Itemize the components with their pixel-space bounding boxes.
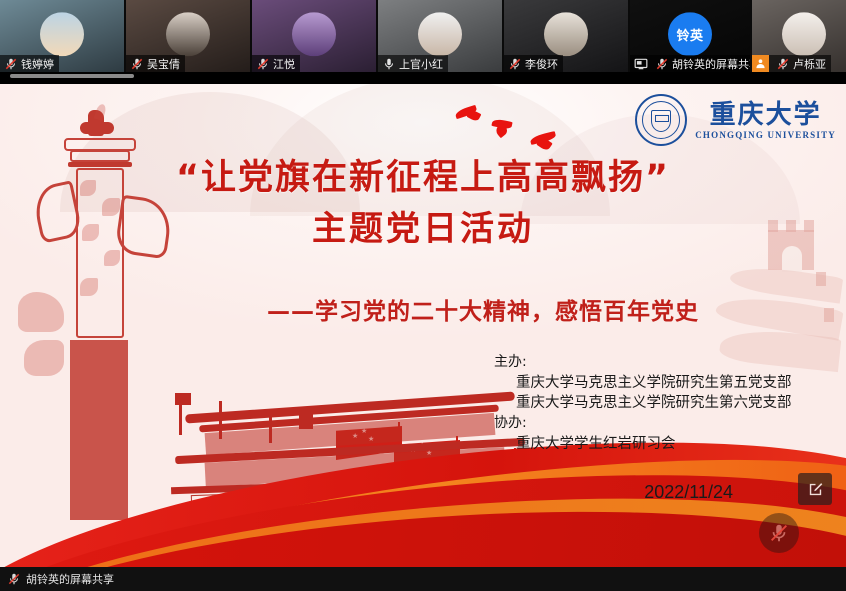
host-label: 主办: bbox=[494, 352, 846, 373]
avatar bbox=[544, 12, 588, 56]
participant-tile[interactable]: 卢栎亚 bbox=[752, 0, 846, 72]
shared-screen-slide: ★★★ ★★★ ★★★ bbox=[0, 84, 846, 567]
avatar bbox=[292, 12, 336, 56]
participant-namebar: 吴宝倩 bbox=[126, 55, 185, 72]
participant-tile[interactable]: 江悦 bbox=[252, 0, 376, 72]
slide-title-main: “让党旗在新征程上高高飘扬” bbox=[0, 156, 846, 200]
zoom-meeting-window: 钱婷婷吴宝倩江悦上官小红李俊环铃英胡铃英的屏幕共享卢栎亚 bbox=[0, 0, 846, 591]
filmstrip-scrollbar[interactable] bbox=[0, 72, 846, 80]
participant-name: 胡铃英的屏幕共享 bbox=[672, 56, 750, 72]
microphone-muted-icon bbox=[508, 57, 522, 71]
avatar-initials: 铃英 bbox=[668, 12, 712, 56]
status-bar-text: 胡铃英的屏幕共享 bbox=[26, 571, 114, 587]
chongqing-university-logo: 重庆大学 CHONGQING UNIVERSITY bbox=[635, 94, 836, 146]
participant-name: 卢栎亚 bbox=[793, 56, 826, 72]
status-bar: 胡铃英的屏幕共享 bbox=[0, 567, 846, 591]
participant-tile[interactable]: 钱婷婷 bbox=[0, 0, 124, 72]
participant-name: 钱婷婷 bbox=[21, 56, 54, 72]
microphone-icon bbox=[382, 57, 396, 71]
participant-name: 上官小红 bbox=[399, 56, 443, 72]
participant-filmstrip[interactable]: 钱婷婷吴宝倩江悦上官小红李俊环铃英胡铃英的屏幕共享卢栎亚 bbox=[0, 0, 846, 80]
participant-namebar: 江悦 bbox=[252, 55, 300, 72]
microphone-muted-icon bbox=[768, 522, 790, 544]
participant-namebar: 李俊环 bbox=[504, 55, 563, 72]
microphone-muted-icon bbox=[655, 57, 669, 71]
microphone-muted-icon bbox=[776, 57, 790, 71]
screen-share-icon bbox=[634, 57, 648, 71]
participant-name: 江悦 bbox=[273, 56, 295, 72]
participant-name: 吴宝倩 bbox=[147, 56, 180, 72]
slide-subtitle: ——学习党的二十大精神，感悟百年党史 bbox=[0, 292, 846, 326]
cqu-seal-icon bbox=[635, 94, 687, 146]
microphone-muted-icon bbox=[256, 57, 270, 71]
annotate-pencil-icon bbox=[807, 481, 824, 498]
cqu-name-cn: 重庆大学 bbox=[710, 101, 822, 129]
host-value: 重庆大学马克思主义学院研究生第六党支部 bbox=[494, 393, 846, 413]
cohost-value: 重庆大学学生红岩研习会 bbox=[494, 434, 846, 454]
participant-namebar: 上官小红 bbox=[378, 55, 448, 72]
host-value: 重庆大学马克思主义学院研究生第五党支部 bbox=[494, 373, 846, 393]
cqu-name-en: CHONGQING UNIVERSITY bbox=[695, 130, 836, 140]
participant-tile[interactable]: 上官小红 bbox=[378, 0, 502, 72]
microphone-muted-icon bbox=[7, 572, 21, 586]
avatar bbox=[166, 12, 210, 56]
avatar bbox=[782, 12, 826, 56]
cohost-label: 协办: bbox=[494, 413, 846, 434]
host-person-icon bbox=[755, 58, 766, 69]
annotate-button[interactable] bbox=[798, 473, 832, 505]
event-date: 2022/11/24 bbox=[644, 482, 733, 503]
avatar bbox=[418, 12, 462, 56]
participant-name: 李俊环 bbox=[525, 56, 558, 72]
avatar bbox=[40, 12, 84, 56]
slide-title-sub: 主题党日活动 bbox=[0, 208, 846, 250]
microphone-muted-icon bbox=[4, 57, 18, 71]
participant-tile[interactable]: 李俊环 bbox=[504, 0, 628, 72]
participant-namebar: 钱婷婷 bbox=[0, 55, 59, 72]
avatar: 铃英 bbox=[668, 12, 712, 56]
mic-mute-toggle[interactable] bbox=[759, 513, 799, 553]
organizer-block: 主办: 重庆大学马克思主义学院研究生第五党支部 重庆大学马克思主义学院研究生第六… bbox=[494, 352, 846, 454]
host-badge bbox=[752, 55, 769, 72]
participant-namebar: 卢栎亚 bbox=[752, 55, 831, 72]
filmstrip-scrollbar-thumb[interactable] bbox=[10, 74, 134, 78]
participant-tile[interactable]: 吴宝倩 bbox=[126, 0, 250, 72]
participant-namebar: 胡铃英的屏幕共享 bbox=[630, 55, 750, 72]
participant-tile[interactable]: 铃英胡铃英的屏幕共享 bbox=[630, 0, 750, 72]
microphone-muted-icon bbox=[130, 57, 144, 71]
